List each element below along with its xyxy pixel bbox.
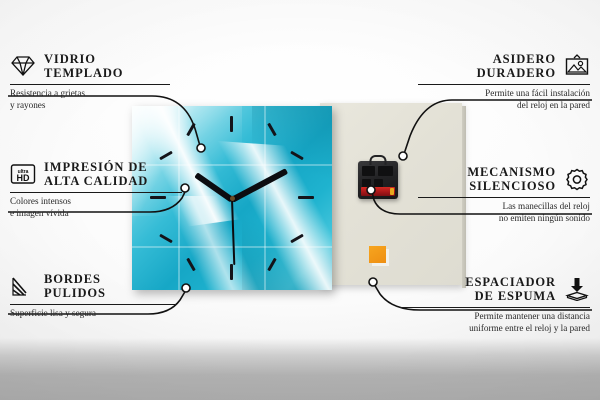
wall-hanger-icon — [564, 54, 590, 78]
feature-title-line2: SILENCIOSO — [467, 179, 556, 193]
hour-tick — [298, 196, 314, 199]
feature-mecanismo-silencioso[interactable]: MECANISMO SILENCIOSO Las manecillas del … — [418, 165, 590, 224]
divider — [418, 197, 590, 198]
hour-tick — [230, 116, 233, 132]
divider — [10, 304, 175, 305]
ultra-hd-icon: ultra HD — [10, 162, 36, 186]
polished-edges-icon — [10, 274, 36, 298]
feature-bordes-pulidos[interactable]: BORDES PULIDOS Superficie lisa y segura — [10, 272, 175, 320]
feature-title-line1: ASIDERO — [477, 52, 556, 66]
feature-description: Las manecillas del reloj no emiten ningú… — [418, 201, 590, 224]
mechanism-slot — [378, 166, 393, 176]
divider — [418, 84, 590, 85]
feature-title-line2: PULIDOS — [44, 286, 106, 300]
mechanism-slot — [362, 166, 375, 176]
feature-description: Superficie lisa y segura — [10, 308, 175, 320]
feature-title-line1: MECANISMO — [467, 165, 556, 179]
feature-title-line2: DURADERO — [477, 66, 556, 80]
divider — [10, 192, 182, 193]
feature-espaciador-de-espuma[interactable]: ESPACIADOR DE ESPUMA Permite mantener un… — [400, 275, 590, 334]
hand-cap — [230, 196, 235, 201]
divider — [10, 84, 170, 85]
feature-description: Colores intensos e imagen vívida — [10, 196, 182, 219]
battery — [361, 187, 395, 196]
svg-text:HD: HD — [17, 173, 30, 183]
feature-title-line1: ESPACIADOR — [465, 275, 556, 289]
floor-shadow — [0, 338, 600, 400]
diamond-icon — [10, 54, 36, 78]
feature-title-line1: BORDES — [44, 272, 106, 286]
clock-mechanism — [358, 161, 398, 199]
mechanism-hook — [370, 155, 387, 165]
infographic-canvas: VIDRIO TEMPLADO Resistencia a grietas y … — [0, 0, 600, 400]
feature-description: Permite mantener una distancia uniforme … — [400, 311, 590, 334]
foam-spacer — [369, 246, 386, 263]
gear-icon — [564, 167, 590, 191]
feature-title-line2: TEMPLADO — [44, 66, 123, 80]
divider — [400, 307, 590, 308]
feature-vidrio-templado[interactable]: VIDRIO TEMPLADO Resistencia a grietas y … — [10, 52, 170, 111]
feature-asidero-duradero[interactable]: ASIDERO DURADERO Permite una fácil insta… — [418, 52, 590, 111]
hour-tick — [230, 264, 233, 280]
feature-description: Permite una fácil instalación del reloj … — [418, 88, 590, 111]
feature-title-line2: ALTA CALIDAD — [44, 174, 148, 188]
foam-spacer-icon — [564, 277, 590, 301]
feature-title-line1: VIDRIO — [44, 52, 123, 66]
feature-impresion-alta-calidad[interactable]: ultra HD IMPRESIÓN DE ALTA CALIDAD Color… — [10, 160, 182, 219]
feature-description: Resistencia a grietas y rayones — [10, 88, 170, 111]
feature-title-line1: IMPRESIÓN DE — [44, 160, 148, 174]
feature-title-line2: DE ESPUMA — [465, 289, 556, 303]
